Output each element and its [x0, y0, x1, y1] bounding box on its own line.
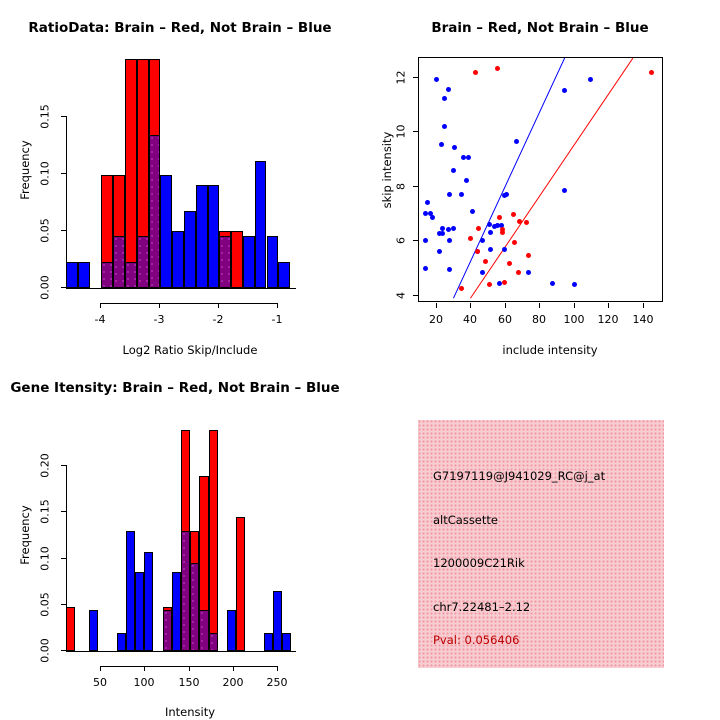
scatter-point-not-brain [442, 124, 447, 129]
scatter-point-not-brain [550, 281, 555, 286]
hist-bar-not-brain [144, 552, 153, 651]
scatter-point-brain [487, 282, 492, 287]
hist-bar-not-brain [227, 610, 236, 651]
hist-bar-brain [236, 517, 245, 651]
hist-bar-overlap [113, 236, 125, 288]
scatter-plot-area [418, 57, 663, 302]
scatter-ytick-label: 8 [395, 179, 408, 195]
info-locus: chr7.22481–2.12 [433, 600, 530, 614]
scatter-ytick-label: 6 [395, 233, 408, 249]
scatter-point-brain [459, 286, 464, 291]
scatter-point-brain [526, 253, 531, 258]
hist-bar-not-brain [126, 531, 135, 651]
hist-bar-not-brain [78, 262, 90, 288]
scatter-point-not-brain [434, 77, 439, 82]
scatter-point-not-brain [470, 209, 475, 214]
scatter-point-not-brain [439, 142, 444, 147]
scatter-point-not-brain [459, 192, 464, 197]
hist-bar-brain [125, 59, 137, 288]
scatter-point-brain [476, 226, 481, 231]
hist-bar-not-brain [267, 236, 279, 288]
scatter-ytick-label: 12 [395, 66, 408, 90]
scatter-point-not-brain [488, 230, 493, 235]
scatter-point-brain [500, 230, 505, 235]
hist-bar-overlap [149, 135, 161, 288]
hist-bar-overlap [137, 236, 149, 288]
scatter-xlabel: include intensity [400, 343, 700, 357]
scatter-ytick [413, 295, 418, 296]
panel-ratio-histogram: RatioData: Brain – Red, Not Brain – Blue… [0, 0, 360, 360]
info-event-type: altCassette [433, 513, 498, 527]
scatter-point-brain [512, 240, 517, 245]
hist-bar-brain [231, 231, 243, 288]
hist-bar-not-brain [184, 211, 196, 288]
info-probe-id: G7197119@J941029_RC@j_at [433, 469, 605, 483]
hist-bar-not-brain [278, 262, 290, 288]
hist-bar-not-brain [89, 610, 98, 651]
hist-bar-not-brain [196, 185, 208, 288]
scatter-point-not-brain [423, 238, 428, 243]
scatter-title: Brain – Red, Not Brain – Blue [360, 20, 720, 36]
hist-bar-overlap [219, 236, 231, 288]
hist-bar-brain [66, 607, 75, 651]
scatter-xtick-label: 20 [421, 313, 451, 326]
hist-bar-overlap [190, 563, 199, 651]
hist-bar-not-brain [264, 633, 273, 651]
scatter-point-brain [516, 270, 521, 275]
scatter-point-brain [468, 236, 473, 241]
hist-bar-not-brain [282, 633, 291, 651]
scatter-point-brain [507, 261, 512, 266]
hist-bar-not-brain [117, 633, 126, 651]
hist-bar-not-brain [66, 262, 78, 288]
scatter-point-not-brain [437, 249, 442, 254]
hist-bar-overlap [181, 531, 190, 651]
scatter-point-not-brain [464, 178, 469, 183]
scatter-point-not-brain [447, 192, 452, 197]
hist-bar-not-brain [255, 161, 267, 288]
scatter-xtick [643, 303, 644, 308]
scatter-point-not-brain [588, 77, 593, 82]
scatter-ytick [413, 240, 418, 241]
scatter-xtick [436, 303, 437, 308]
hist-bar-overlap [163, 610, 172, 651]
scatter-ytick-label: 10 [395, 120, 408, 144]
panel-gene-histogram: Gene Itensity: Brain – Red, Not Brain – … [0, 360, 360, 720]
gene-hist-bars [0, 360, 360, 720]
scatter-point-not-brain [423, 266, 428, 271]
scatter-ytick [413, 131, 418, 132]
scatter-point-not-brain [451, 226, 456, 231]
scatter-point-not-brain [466, 155, 471, 160]
hist-bar-not-brain [135, 572, 144, 651]
scatter-point-not-brain [572, 282, 577, 287]
scatter-point-not-brain [526, 270, 531, 275]
scatter-ylabel: skip intensity [380, 100, 394, 240]
panel-gene-info: G7197119@J941029_RC@j_at altCassette 120… [418, 420, 664, 668]
scatter-xtick [574, 303, 575, 308]
scatter-xtick-label: 120 [590, 313, 626, 326]
hist-bar-not-brain [208, 185, 220, 288]
scatter-point-not-brain [562, 88, 567, 93]
scatter-xtick [608, 303, 609, 308]
scatter-point-brain [502, 280, 507, 285]
scatter-point-not-brain [562, 188, 567, 193]
figure-canvas: RatioData: Brain – Red, Not Brain – Blue… [0, 0, 720, 720]
scatter-point-brain [524, 220, 529, 225]
scatter-point-not-brain [504, 192, 509, 197]
scatter-point-not-brain [447, 238, 452, 243]
scatter-point-not-brain [502, 247, 507, 252]
hist-bar-brain [209, 430, 218, 651]
hist-bar-not-brain [172, 572, 181, 651]
hist-bar-overlap [199, 610, 208, 651]
scatter-point-not-brain [480, 270, 485, 275]
hist-bar-overlap [125, 262, 137, 288]
scatter-xtick-label: 100 [556, 313, 592, 326]
regression-line [470, 58, 633, 299]
scatter-point-brain [473, 70, 478, 75]
scatter-point-not-brain [487, 222, 492, 227]
info-pval: Pval: 0.056406 [433, 633, 519, 647]
scatter-point-brain [497, 215, 502, 220]
scatter-xtick-label: 40 [455, 313, 485, 326]
scatter-point-not-brain [440, 226, 445, 231]
hist-bar-overlap [101, 262, 113, 288]
scatter-point-brain [495, 66, 500, 71]
panel-intensity-scatter: Brain – Red, Not Brain – Blue skip inten… [360, 0, 720, 360]
scatter-xtick [539, 303, 540, 308]
scatter-point-brain [475, 249, 480, 254]
scatter-xtick-label: 60 [490, 313, 520, 326]
hist-bar-not-brain [172, 231, 184, 288]
scatter-point-brain [649, 70, 654, 75]
scatter-point-brain [483, 259, 488, 264]
scatter-point-not-brain [440, 231, 445, 236]
scatter-point-not-brain [447, 267, 452, 272]
scatter-xtick [505, 303, 506, 308]
scatter-point-not-brain [452, 145, 457, 150]
hist-bar-overlap [209, 633, 218, 651]
info-gene-symbol: 1200009C21Rik [433, 556, 525, 570]
scatter-point-not-brain [480, 238, 485, 243]
scatter-xtick-label: 140 [625, 313, 661, 326]
scatter-xtick [470, 303, 471, 308]
scatter-point-not-brain [446, 87, 451, 92]
hist-bar-not-brain [160, 175, 172, 288]
hist-bar-not-brain [273, 591, 282, 651]
scatter-ytick-label: 4 [395, 288, 408, 304]
scatter-point-not-brain [514, 139, 519, 144]
scatter-ytick [413, 77, 418, 78]
scatter-point-not-brain [430, 215, 435, 220]
hist-bar-not-brain [243, 236, 255, 288]
scatter-point-brain [511, 212, 516, 217]
scatter-point-not-brain [425, 200, 430, 205]
scatter-point-not-brain [442, 96, 447, 101]
scatter-point-not-brain [446, 227, 451, 232]
ratio-hist-bars [0, 0, 360, 360]
scatter-point-not-brain [451, 168, 456, 173]
scatter-ytick [413, 186, 418, 187]
scatter-xtick-label: 80 [524, 313, 554, 326]
scatter-point-not-brain [488, 247, 493, 252]
